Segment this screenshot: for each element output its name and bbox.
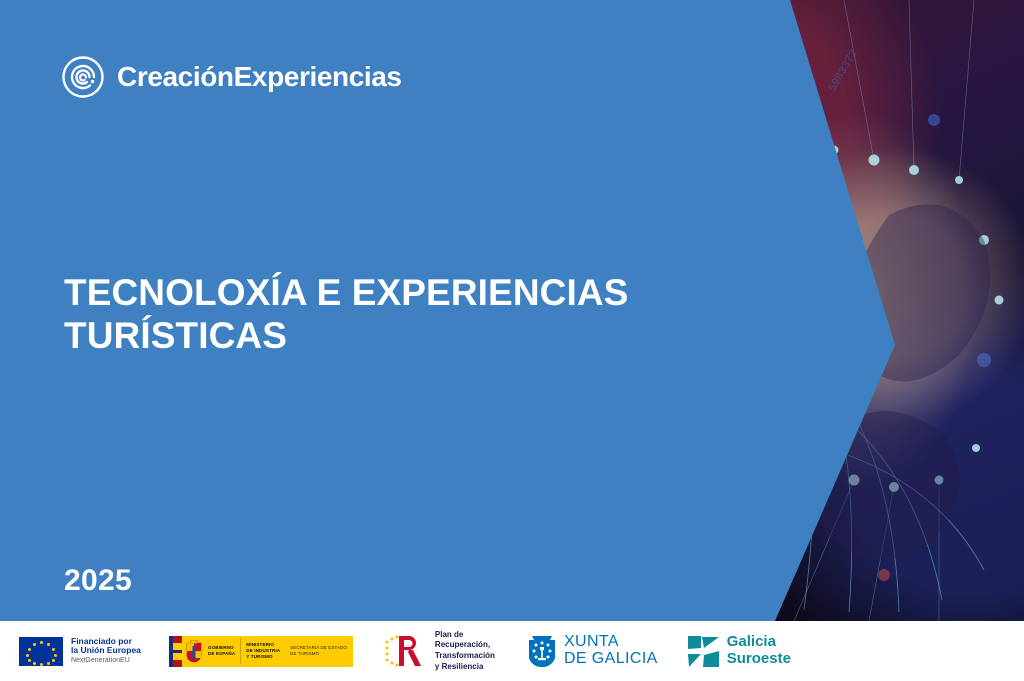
prtr-line-1: Plan de [435,630,495,641]
presentation-slide: 65343979 64391797 65248734 652157 133455… [0,0,1024,681]
page-title-line-2: TURÍSTICAS [64,315,287,356]
creacion-experiencias-spiral-icon [62,56,104,98]
brand-name: CreaciónExperiencias [117,61,402,93]
logo-galicia-suroeste: Galicia Suroeste [688,634,791,668]
gobierno-espana-text: GOBIERNO DE ESPAÑA [208,645,235,657]
eu-funding-line-2: la Unión Europea [71,646,141,656]
secretaria-line-2: DE TURISMO [290,651,347,657]
spain-coat-of-arms-icon [184,639,204,663]
galicia-coat-of-arms-icon [527,634,557,668]
xunta-text: XUNTA DE GALICIA [564,634,658,668]
year-label: 2025 [64,564,132,598]
gobierno-line-2: DE ESPAÑA [208,651,235,657]
secretaria-estado-turismo-text: SECRETARÍA DE ESTADO DE TURISMO [290,645,347,657]
prtr-line-3: Transformación [435,651,495,662]
spain-flag-bands-icon [169,636,182,667]
prtr-line-4: y Resiliencia [435,662,495,673]
ministerio-text: MINISTERIO DE INDUSTRIA Y TURISMO [246,642,280,661]
logo-xunta-de-galicia: XUNTA DE GALICIA [527,634,658,668]
eu-flag-icon [18,636,64,667]
galicia-suroeste-pinwheel-icon [688,636,719,667]
footer-logo-strip: Financiado por la Unión Europea NextGene… [0,621,766,681]
prtr-line-2: Recuperación, [435,640,495,651]
logo-gobierno-espana: GOBIERNO DE ESPAÑA MINISTERIO DE INDUSTR… [169,636,353,667]
xunta-line-2: DE GALICIA [564,651,658,668]
ministerio-line-3: Y TURISMO [246,654,280,660]
gobierno-divider [240,638,241,664]
prtr-mark-icon [383,634,429,668]
logo-eu-funding: Financiado por la Unión Europea NextGene… [18,636,141,667]
page-title: TECNOLOXÍA E EXPERIENCIAS TURÍSTICAS [64,272,704,358]
page-title-line-1: TECNOLOXÍA E EXPERIENCIAS [64,272,628,313]
logo-plan-recuperacion: Plan de Recuperación, Transformación y R… [383,630,495,672]
plan-recuperacion-text: Plan de Recuperación, Transformación y R… [435,630,495,672]
xunta-line-1: XUNTA [564,634,658,651]
gsw-line-1: Galicia [727,634,791,651]
brand-lockup: CreaciónExperiencias [62,56,402,98]
eu-funding-line-3: NextGenerationEU [71,657,141,665]
gsw-line-2: Suroeste [727,651,791,668]
galicia-suroeste-text: Galicia Suroeste [727,634,791,668]
svg-text:5983372: 5983372 [827,48,861,94]
